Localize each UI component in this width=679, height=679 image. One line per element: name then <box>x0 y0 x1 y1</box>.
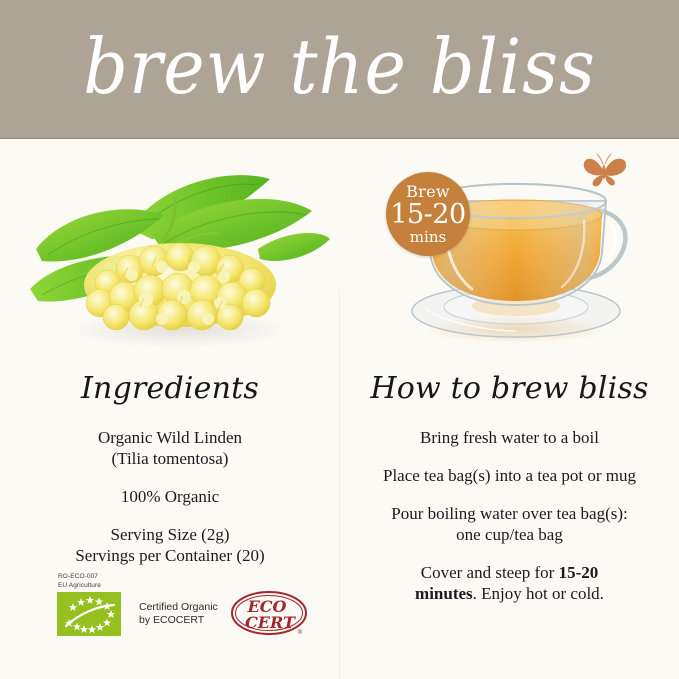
brew-time-badge: Brew 15-20 mins <box>386 172 470 256</box>
certified-organic-line2: by ECOCERT <box>139 614 204 626</box>
ecocert-logo: ECO CERT ® <box>229 589 309 639</box>
ingredient-organic-claim: 100% Organic <box>0 486 340 507</box>
content-area: Ingredients Organic Wild Linden (Tilia t… <box>0 139 679 679</box>
ingredient-primary-line2: (Tilia tomentosa) <box>112 449 229 468</box>
brew-step-4-duration: 15-20 <box>559 563 599 582</box>
brew-steps-text: Bring fresh water to a boil Place tea ba… <box>340 427 679 604</box>
brewing-instructions-column: Brew 15-20 mins How to brew bliss <box>340 139 679 679</box>
ingredient-serving-info: Serving Size (2g) Servings per Container… <box>0 524 340 566</box>
brew-step-4: Cover and steep for 15-20minutes. Enjoy … <box>340 562 679 604</box>
brew-step-3-line2: one cup/tea bag <box>456 525 563 544</box>
butterfly-icon <box>582 151 628 189</box>
ingredients-column: Ingredients Organic Wild Linden (Tilia t… <box>0 139 340 679</box>
ingredients-heading: Ingredients <box>0 371 340 406</box>
linden-flowers-photo <box>12 157 332 357</box>
ingredient-primary-line1: Organic Wild Linden <box>98 428 242 447</box>
eu-code: RO-ECO-007 <box>58 573 98 580</box>
brand-title: brew the bliss <box>83 29 595 111</box>
product-info-panel: brew the bliss <box>0 0 679 679</box>
servings-per-container: Servings per Container (20) <box>75 546 264 565</box>
brew-step-1: Bring fresh water to a boil <box>340 427 679 448</box>
ingredient-primary: Organic Wild Linden (Tilia tomentosa) <box>0 427 340 469</box>
brew-badge-line3: mins <box>410 229 446 245</box>
brew-step-4-tail: . Enjoy hot or cold. <box>473 584 604 603</box>
brew-step-2: Place tea bag(s) into a tea pot or mug <box>340 465 679 486</box>
brew-badge-line1: Brew <box>406 183 450 200</box>
brew-step-3-line1: Pour boiling water over tea bag(s): <box>391 504 628 523</box>
eu-authority: EU Agriculture <box>58 582 101 589</box>
certification-row: RO-ECO-007 EU Agriculture <box>57 573 319 639</box>
certified-organic-text: Certified Organic by ECOCERT <box>139 601 218 627</box>
brew-instructions-heading: How to brew bliss <box>340 371 679 406</box>
brew-step-4-unit: minutes <box>415 584 473 603</box>
header-band: brew the bliss <box>0 0 679 139</box>
ingredients-text: Organic Wild Linden (Tilia tomentosa) 10… <box>0 427 340 566</box>
ecocert-text-bottom: CERT <box>245 613 296 632</box>
serving-size: Serving Size (2g) <box>111 525 230 544</box>
brew-badge-line2: 15-20 <box>390 200 465 229</box>
brew-step-3: Pour boiling water over tea bag(s): one … <box>340 503 679 545</box>
eu-organic-leaf-logo <box>57 592 121 636</box>
eu-leaf-stars-icon <box>57 592 121 636</box>
eu-organic-caption: RO-ECO-007 EU Agriculture <box>58 573 319 590</box>
ecocert-registered-mark: ® <box>298 629 303 636</box>
brew-step-4-lead: Cover and steep for <box>421 563 559 582</box>
certified-organic-line1: Certified Organic <box>139 601 218 613</box>
